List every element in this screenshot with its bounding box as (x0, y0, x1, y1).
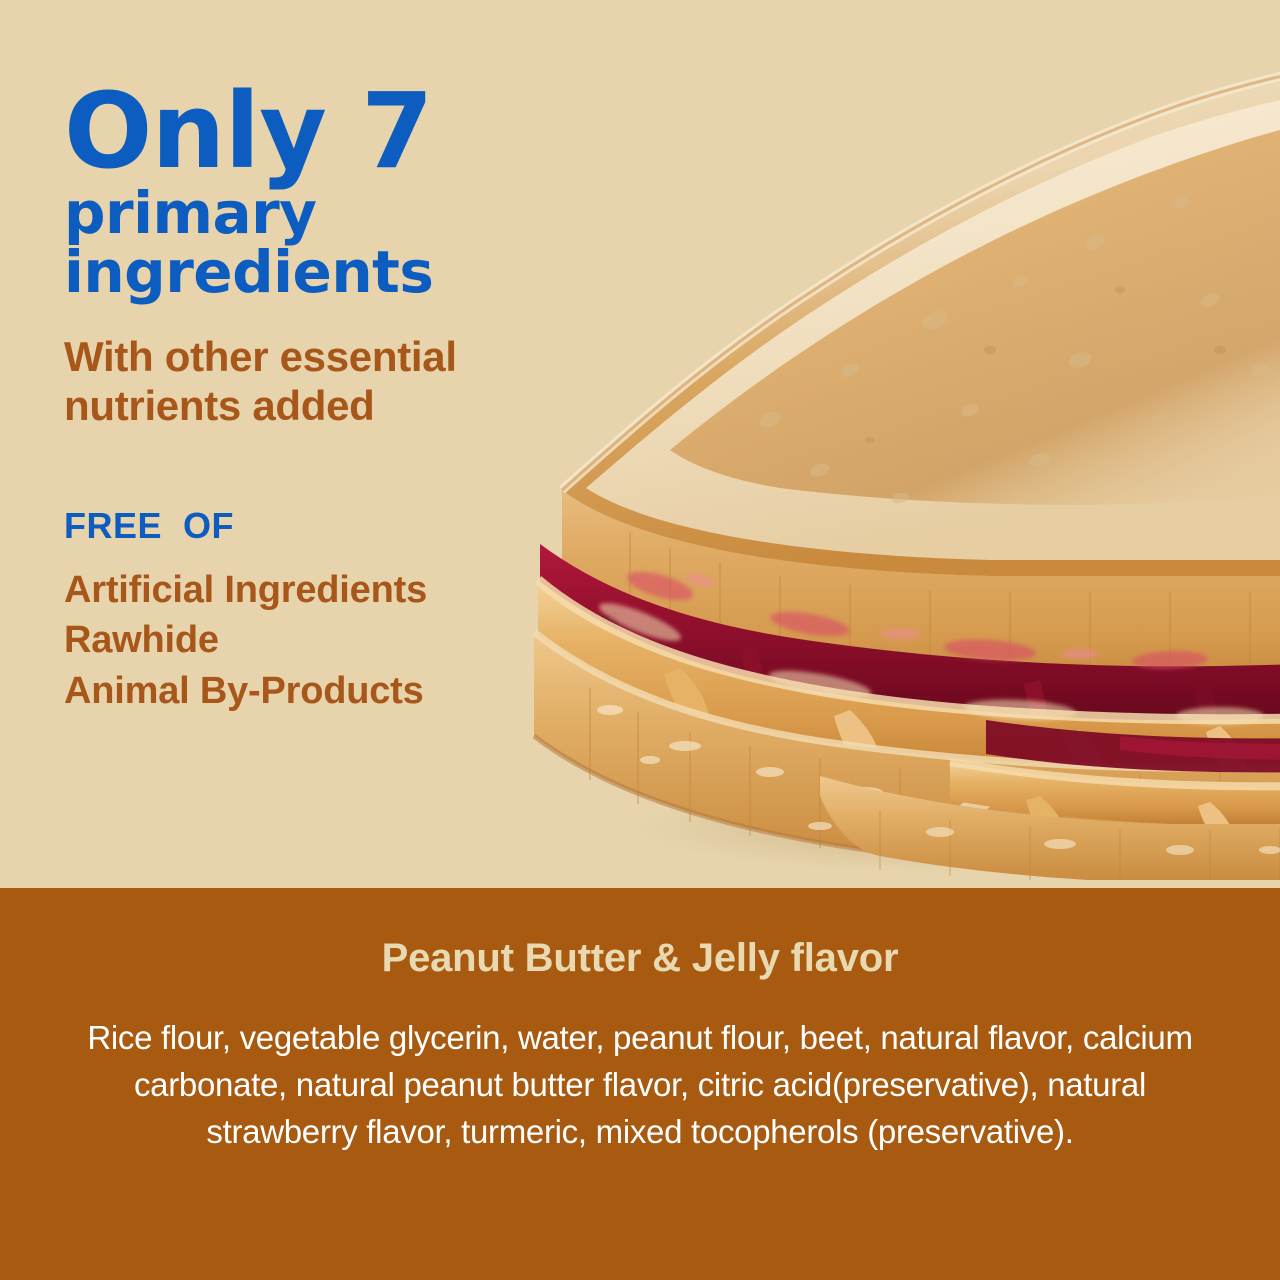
headline-line-primary: primary (64, 184, 584, 244)
free-of-item-rawhide: Rawhide (64, 615, 584, 666)
pbj-sandwich-image (520, 20, 1280, 880)
flavor-info-panel: Peanut Butter & Jelly flavor Rice flour,… (0, 888, 1280, 1280)
top-feature-region: Only 7 primary ingredients With other es… (0, 0, 1280, 888)
subcopy-line-2: nutrients added (64, 382, 584, 431)
free-of-heading: FREE OF (64, 505, 584, 547)
subcopy-nutrients: With other essential nutrients added (64, 333, 584, 430)
free-of-item-artificial-ingredients: Artificial Ingredients (64, 565, 584, 616)
subcopy-line-1: With other essential (64, 333, 584, 382)
flavor-title: Peanut Butter & Jelly flavor (64, 936, 1216, 981)
product-marketing-poster: Only 7 primary ingredients With other es… (0, 0, 1280, 1280)
ingredients-list-text: Rice flour, vegetable glycerin, water, p… (75, 1015, 1205, 1156)
headline-primary-count: Only 7 (64, 84, 584, 180)
headline-secondary: primary ingredients (64, 184, 584, 303)
feature-copy-block: Only 7 primary ingredients With other es… (64, 84, 584, 716)
free-of-list: Artificial Ingredients Rawhide Animal By… (64, 565, 584, 717)
free-of-item-animal-by-products: Animal By-Products (64, 666, 584, 717)
headline-line-ingredients: ingredients (64, 243, 584, 303)
